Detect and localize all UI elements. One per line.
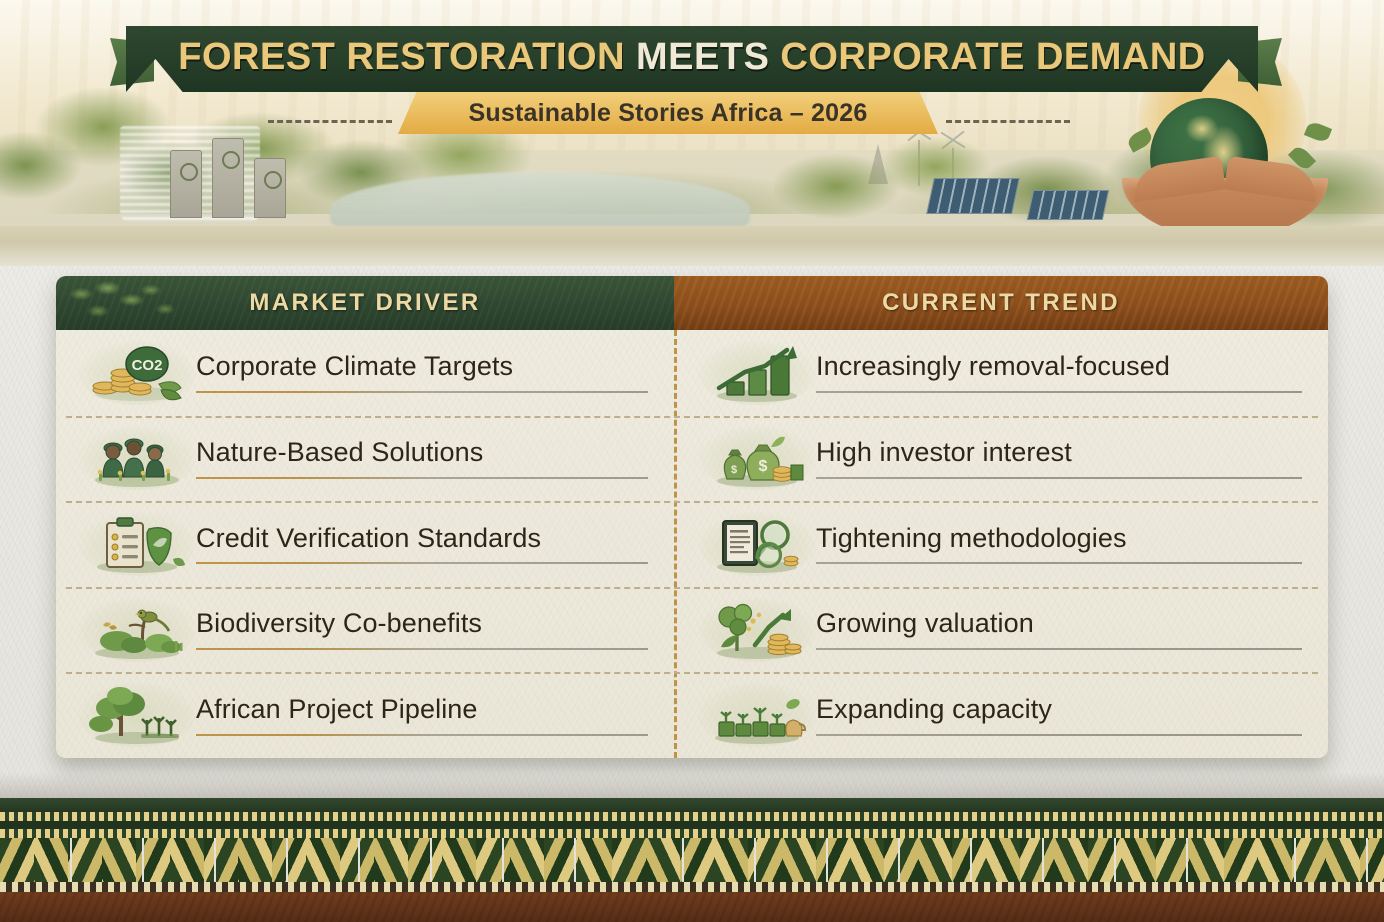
cell-underline [816, 477, 1302, 479]
table-row: Biodiversity Co-benefits [56, 587, 1328, 673]
infographic-poster: FOREST RESTORATION MEETS CORPORATE DEMAN… [0, 0, 1384, 922]
cell-label: Corporate Climate Targets [196, 352, 648, 382]
community-workers-field-icon [78, 426, 196, 490]
cell-current-trend: Tightening methodologies [674, 501, 1328, 587]
cell-current-trend: Growing valuation [674, 587, 1328, 673]
cell-current-trend: $ $ High investor interest [674, 416, 1328, 502]
column-header-market-driver: MARKET DRIVER [56, 276, 674, 330]
co2-coins-leaf-icon: CO2 [78, 341, 196, 405]
cell-content: African Project Pipeline [196, 695, 674, 736]
svg-text:$: $ [731, 464, 737, 476]
cell-label: African Project Pipeline [196, 695, 648, 725]
leaf-icon [1304, 120, 1332, 144]
cell-underline [196, 562, 648, 564]
cell-label: High investor interest [816, 438, 1302, 468]
cell-content: Expanding capacity [816, 695, 1328, 736]
table-row: Nature-Based Solutions $ $ [56, 416, 1328, 502]
cell-market-driver: CO2 Corporate Climate Targets [56, 330, 674, 416]
cell-label: Nature-Based Solutions [196, 438, 648, 468]
subtitle-dash-left [268, 120, 392, 123]
tree-saplings-row-icon [78, 683, 196, 747]
dam-tower [170, 150, 202, 218]
page-title: FOREST RESTORATION MEETS CORPORATE DEMAN… [126, 26, 1258, 88]
column-header-current-trend: CURRENT TREND [674, 276, 1328, 330]
cell-content: Tightening methodologies [816, 524, 1328, 565]
cell-underline [816, 391, 1302, 393]
column-header-label: MARKET DRIVER [249, 289, 480, 317]
footer-bead-row [0, 829, 1384, 838]
cell-content: Biodiversity Co-benefits [196, 609, 674, 650]
subtitle-dash-right [946, 120, 1070, 123]
bird-tree-butterfly-icon [78, 598, 196, 662]
cell-underline [816, 648, 1302, 650]
clipboard-checklist-shield-icon [78, 512, 196, 576]
dam-tower [254, 158, 286, 218]
footer-dark-gap [0, 821, 1384, 829]
table-row: Credit Verification Standards [56, 501, 1328, 587]
cell-underline [196, 648, 648, 650]
solar-panel-icon [926, 178, 1020, 214]
cell-underline [816, 734, 1302, 736]
leaf-branch-icon [62, 278, 182, 328]
cell-label: Biodiversity Co-benefits [196, 609, 648, 639]
african-pattern-border [0, 798, 1384, 922]
cell-market-driver: Nature-Based Solutions [56, 416, 674, 502]
solar-panel-icon [1027, 190, 1109, 220]
dam-tower [212, 138, 244, 218]
footer-shadow [0, 772, 1384, 798]
cell-underline [196, 477, 648, 479]
foreground-ground [0, 226, 1384, 266]
table-row: CO2 Corporate Climate Targets [56, 330, 1328, 416]
footer-green-band [0, 798, 1384, 812]
growth-bar-chart-arrow-icon [698, 341, 816, 405]
cell-content: Growing valuation [816, 609, 1328, 650]
subtitle: Sustainable Stories Africa – 2026 [398, 92, 938, 134]
cell-label: Expanding capacity [816, 695, 1302, 725]
cell-content: Corporate Climate Targets [196, 352, 674, 393]
cell-market-driver: Credit Verification Standards [56, 501, 674, 587]
title-part-3: CORPORATE DEMAND [780, 36, 1205, 79]
cell-label: Tightening methodologies [816, 524, 1302, 554]
seedling-crates-icon [698, 683, 816, 747]
cell-content: High investor interest [816, 438, 1328, 479]
money-bags-coins-icon: $ $ [698, 426, 816, 490]
cell-market-driver: Biodiversity Co-benefits [56, 587, 674, 673]
table-row: African Project Pipeline [56, 672, 1328, 758]
cell-content: Credit Verification Standards [196, 524, 674, 565]
footer-soil-band [0, 892, 1384, 922]
column-header-label: CURRENT TREND [882, 289, 1120, 317]
table-body: CO2 Corporate Climate Targets [56, 330, 1328, 758]
cell-underline [196, 734, 648, 736]
table-header-row: MARKET DRIVER CURRENT TREND [56, 276, 1328, 330]
title-part-2: MEETS [636, 36, 769, 79]
comparison-table-card: MARKET DRIVER CURRENT TREND [56, 276, 1328, 758]
cell-content: Increasingly removal-focused [816, 352, 1328, 393]
cell-current-trend: Expanding capacity [674, 672, 1328, 758]
cell-label: Credit Verification Standards [196, 524, 648, 554]
cell-current-trend: Increasingly removal-focused [674, 330, 1328, 416]
title-part-1: FOREST RESTORATION [178, 36, 625, 79]
hydro-dam-icon [168, 132, 288, 218]
footer-dot-row [0, 882, 1384, 892]
cell-label: Increasingly removal-focused [816, 352, 1302, 382]
cell-underline [196, 391, 648, 393]
cell-underline [816, 562, 1302, 564]
svg-text:$: $ [759, 458, 768, 475]
document-magnifier-icon [698, 512, 816, 576]
svg-text:CO2: CO2 [132, 357, 163, 374]
cell-market-driver: African Project Pipeline [56, 672, 674, 758]
footer-chevron-right [0, 838, 1384, 882]
cell-label: Growing valuation [816, 609, 1302, 639]
hands-holding-globe-icon [1122, 98, 1332, 238]
cell-content: Nature-Based Solutions [196, 438, 674, 479]
footer-bead-row [0, 812, 1384, 821]
sapling-coins-arrow-icon [698, 598, 816, 662]
